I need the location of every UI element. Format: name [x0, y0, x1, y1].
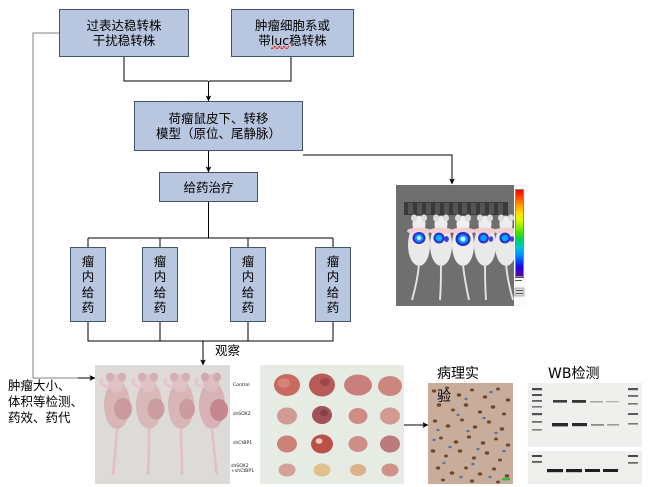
char-2: 内 [82, 269, 95, 285]
bioluminescence-colorbar [515, 189, 524, 277]
char-1: 瘤 [327, 254, 340, 270]
char-4: 药 [154, 300, 167, 316]
node-intratumoral-administration-3[interactable]: 瘤 内 给 药 [230, 247, 266, 322]
node-line-1: 过表达稳转株 [86, 18, 161, 33]
char-2: 内 [327, 269, 340, 285]
char-2: 内 [154, 269, 167, 285]
char-3: 给 [82, 285, 95, 301]
label-western-blot: WB检测 [548, 366, 599, 382]
group-label-shsox2-shctbp1: shSOX2 +shCtBP1 [231, 464, 254, 475]
node-intratumoral-administration-2[interactable]: 瘤 内 给 药 [142, 247, 178, 322]
group-label-shsox2: shSOX2 [233, 412, 251, 417]
label-feedback-metrics: 肿瘤大小、 体积等检测、 药效、药代 [8, 378, 83, 426]
char-1: 瘤 [82, 254, 95, 270]
node-line-2: 模型（原位、尾静脉） [156, 126, 281, 141]
luc-suffix: 稳转株 [289, 33, 327, 48]
node-tumor-cell-lines-luc[interactable]: 肿瘤细胞系或 带luc稳转株 [231, 9, 354, 57]
node-line-2: 带luc稳转株 [258, 33, 326, 48]
luc-prefix: 带 [258, 33, 271, 48]
node-line-1: 肿瘤细胞系或 [255, 18, 330, 33]
char-4: 药 [242, 300, 255, 316]
tumor-group-labels: Control shSOX2 shCtBP1 shSOX2 +shCtBP1 [231, 371, 259, 481]
panel-western-blot [528, 383, 642, 484]
char-4: 药 [327, 300, 340, 316]
node-intratumoral-administration-4[interactable]: 瘤 内 给 药 [315, 247, 351, 322]
node-tumor-bearing-mouse-model[interactable]: 荷瘤鼠皮下、转移 模型（原位、尾静脉） [134, 101, 303, 151]
node-line-1: 荷瘤鼠皮下、转移 [168, 111, 268, 126]
node-line-2: 干扰稳转株 [93, 33, 156, 48]
node-overexpression-knockdown-lines[interactable]: 过表达稳转株 干扰稳转株 [59, 9, 189, 57]
char-1: 瘤 [154, 254, 167, 270]
group-label-shctbp1: shCtBP1 [233, 441, 252, 446]
char-3: 给 [154, 285, 167, 301]
node-drug-treatment[interactable]: 给药治疗 [159, 172, 258, 202]
label-observe: 观察 [215, 343, 240, 359]
label-pathology-experiment-cont: 验 [437, 389, 451, 405]
label-pathology-experiment: 病理实 [437, 366, 479, 382]
spellcheck-word-luc: luc [271, 33, 289, 48]
panel-excised-tumor-array [260, 365, 404, 484]
char-3: 给 [327, 285, 340, 301]
node-intratumoral-administration-1[interactable]: 瘤 内 给 药 [70, 247, 106, 322]
char-4: 药 [82, 300, 95, 316]
node-line-1: 给药治疗 [183, 180, 233, 195]
char-1: 瘤 [242, 254, 255, 270]
group-label-control: Control [233, 383, 250, 388]
panel-nude-mice-photo [95, 365, 230, 484]
char-3: 给 [242, 285, 255, 301]
char-2: 内 [242, 269, 255, 285]
panel-bioluminescence-imaging [396, 185, 526, 306]
